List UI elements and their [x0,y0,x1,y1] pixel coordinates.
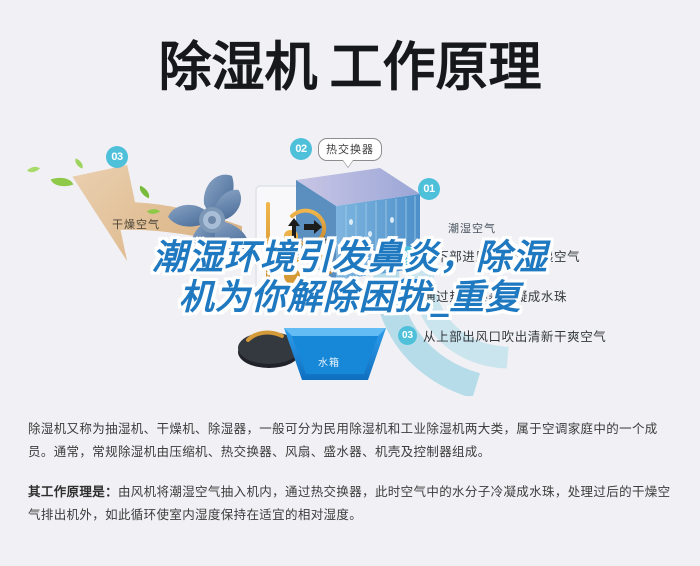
body-paragraph-1: 除湿机又称为抽湿机、干燥机、除湿器，一般可分为民用除湿机和工业除湿机两大类，属于… [28,417,674,463]
body-paragraph-2-text: 由风机将潮湿空气抽入机内，通过热交换器，此时空气中的水分子冷凝成水珠，处理过后的… [28,484,671,522]
step-item-02: 02 通过热交换器冷凝成水珠 [398,286,698,305]
water-tank-label: 水箱 [318,354,340,369]
step-item-03: 03 从上部出风口吹出清新干爽空气 [398,326,698,345]
title-text: 除湿机工作原理 [159,41,542,94]
leaf-icon [27,163,40,175]
heat-exchanger-callout: 热交换器 [318,138,382,161]
badge-02-diagram: 02 [290,138,312,160]
step-item-01: 01 从下部进风口吸进潮湿空气 [398,246,698,265]
step-list: 01 从下部进风口吸进潮湿空气 02 通过热交换器冷凝成水珠 03 从上部出风口… [398,246,698,366]
title-part1: 除湿机 [159,37,318,98]
body-paragraph-2-label: 其工作原理是： [28,484,118,499]
fan-icon [158,166,266,274]
body-paragraph-2: 其工作原理是：由风机将潮湿空气抽入机内，通过热交换器，此时空气中的水分子冷凝成水… [28,480,674,526]
badge-03-diagram: 03 [106,146,128,168]
step-number-02: 02 [398,286,417,305]
article-page: 除湿机工作原理 [0,0,700,566]
step-number-03: 03 [398,326,417,345]
article-body: 除湿机又称为抽湿机、干燥机、除湿器，一般可分为民用除湿机和工业除湿机两大类，属于… [28,417,674,526]
title-part2: 工作原理 [330,37,542,98]
dry-air-label: 干燥空气 [112,216,160,232]
step-text-02: 通过热交换器冷凝成水珠 [423,286,567,305]
badge-01-diagram: 01 [418,178,440,200]
page-title: 除湿机工作原理 [0,22,700,112]
step-number-01: 01 [398,246,417,265]
humid-air-label: 潮湿空气 [448,220,496,236]
step-text-01: 从下部进风口吸进潮湿空气 [423,246,580,265]
step-text-03: 从上部出风口吹出清新干爽空气 [423,326,606,345]
principle-diagram: 水箱 03 02 01 热交换器 干燥空气 潮湿空气 01 从下部进风口吸进潮湿… [0,128,700,396]
